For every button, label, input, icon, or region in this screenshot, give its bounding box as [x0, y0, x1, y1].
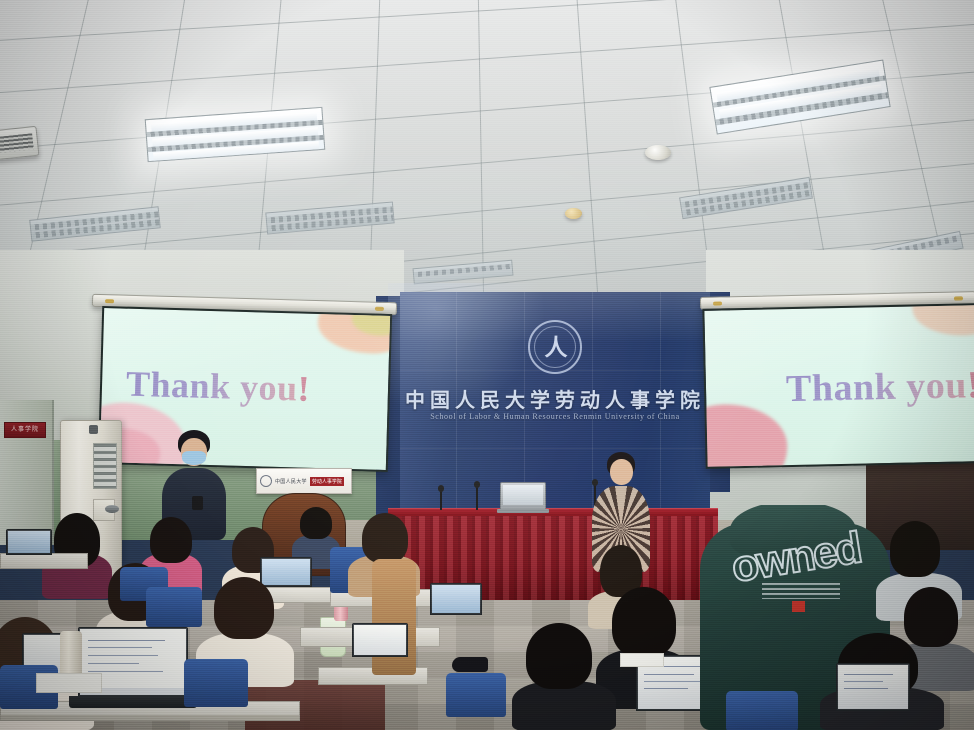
- hoodie-small-print: [762, 583, 840, 599]
- ceiling-light-fixture: [29, 206, 161, 241]
- laptop[interactable]: [430, 583, 482, 615]
- ceiling-light-fixture: [412, 260, 513, 285]
- slide-thank-you-text: Thank you!: [126, 363, 311, 410]
- chair[interactable]: [184, 659, 248, 707]
- smoke-detector: [645, 145, 671, 160]
- left-projection-screen: Thank you!: [98, 306, 392, 472]
- university-seal-icon: [260, 475, 272, 487]
- ceiling-light-fixture: [679, 177, 813, 219]
- stage-backdrop-wall: 人 中国人民大学劳动人事学院 School of Labor & Human R…: [400, 292, 710, 522]
- slide-decoration-blob: [912, 303, 974, 336]
- slide-thank-you-label: Thank you: [786, 364, 968, 410]
- right-projection-screen: Thank you!: [702, 303, 974, 469]
- chair[interactable]: [146, 587, 202, 627]
- desk: [0, 553, 88, 569]
- renmin-university-emblem-icon: 人: [528, 320, 582, 374]
- chair[interactable]: [446, 673, 506, 717]
- laptop[interactable]: [352, 623, 408, 657]
- ceiling-light-fixture: [265, 201, 394, 234]
- shoe: [452, 657, 488, 672]
- ceiling-light-fixture: [145, 107, 326, 162]
- slide-exclamation: !: [297, 368, 311, 408]
- institution-name-english: School of Labor & Human Resources Renmin…: [400, 412, 710, 421]
- podium-sign: 中国人民大学 劳动人事学院: [256, 468, 352, 494]
- ceiling-projector: [0, 126, 39, 160]
- coat-draped: [372, 559, 416, 675]
- attendee: [512, 623, 616, 730]
- podium-sign-chinese: 中国人民大学: [275, 478, 307, 485]
- door-sign: 人事学院: [4, 422, 46, 438]
- notebook: [36, 673, 102, 693]
- slide-thank-you-text: Thank you!: [786, 363, 974, 411]
- slide-thank-you-label: Thank you: [126, 364, 299, 409]
- slide-decoration-blob: [702, 403, 788, 469]
- lecture-hall-photo: 人事学院 人 中国人民大学劳动人事学院 School of Labor & Hu…: [0, 0, 974, 730]
- chair[interactable]: [726, 691, 798, 730]
- audience-area: owned: [0, 505, 974, 730]
- slide-exclamation: !: [966, 364, 974, 406]
- podium-sign-red-chinese: 劳动人事学院: [310, 477, 344, 486]
- face-mask: [182, 451, 206, 465]
- smoke-detector: [565, 208, 582, 219]
- laptop[interactable]: [836, 663, 910, 711]
- laptop[interactable]: [6, 529, 52, 555]
- institution-name-chinese: 中国人民大学劳动人事学院: [400, 384, 710, 413]
- hoodie-red-badge: [792, 601, 805, 612]
- notebook: [620, 653, 664, 667]
